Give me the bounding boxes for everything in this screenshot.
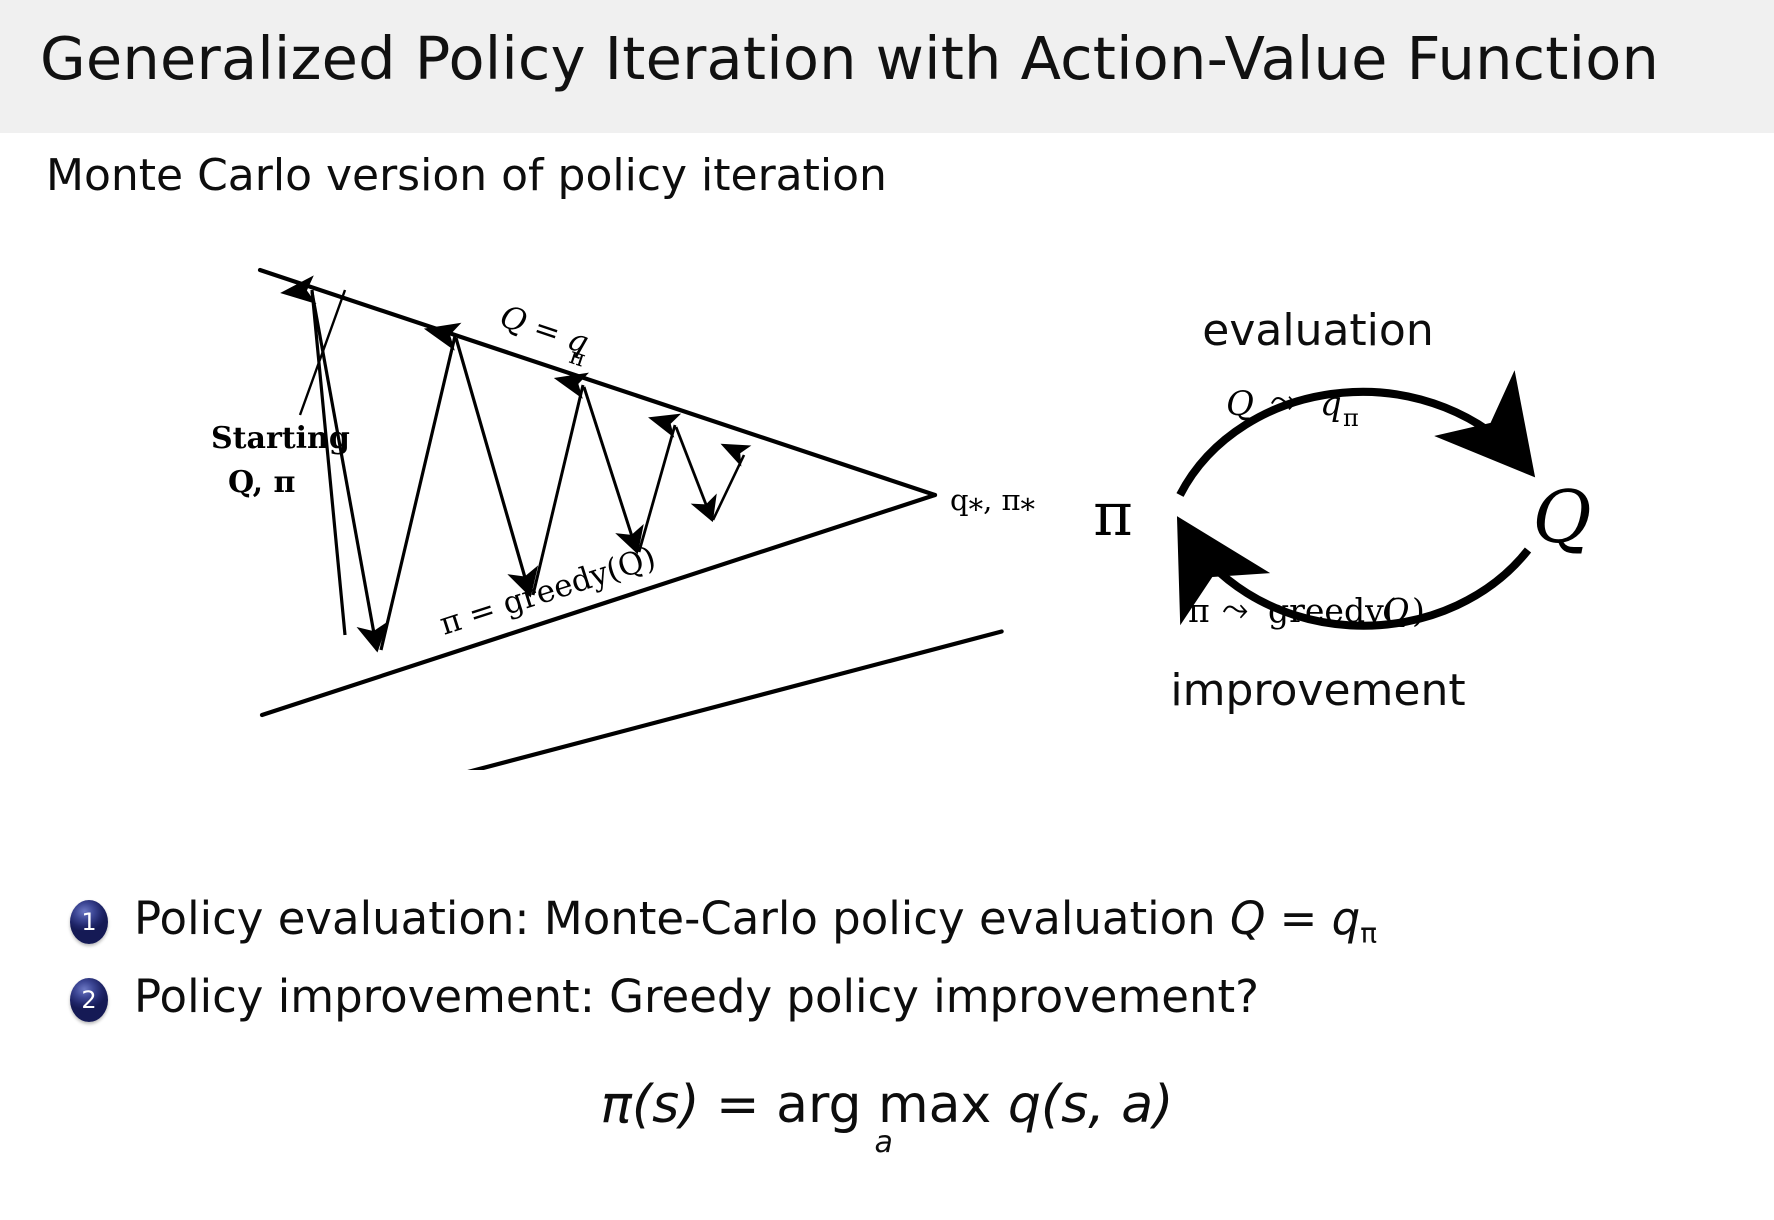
list-item-text: Policy evaluation: Monte-Carlo policy ev… [134,890,1377,962]
formula-operator-subscript: a [875,1125,893,1160]
formula-lhs: π(s) [601,1075,700,1135]
enumerated-steps-list: 1 Policy evaluation: Monte-Carlo policy … [70,890,1720,1046]
formula-rhs: q(s, a) [1008,1075,1174,1135]
formula-equals: = [716,1075,760,1135]
list-item-label: Policy improvement: Greedy policy improv… [134,970,1259,1023]
upper-line-label: Q = q π [492,298,595,372]
zigzag-up-5 [713,455,744,520]
gpi-node-pi: π [1093,480,1132,550]
greedy-policy-formula: π(s) = arg max a q(s, a) [0,1075,1774,1135]
list-item: 2 Policy improvement: Greedy policy impr… [70,968,1720,1032]
zigzag-up-1 [312,290,345,635]
svg-text:Q: Q [1382,591,1409,630]
starting-label-line2: Q, π [228,465,296,500]
improvement-arc-label: π ⤳ greedy( Q ) [1188,589,1425,630]
svg-text:greedy(: greedy( [1268,591,1397,630]
svg-text:): ) [1412,591,1425,630]
upper-boundary-line [260,270,935,495]
lower-boundary-line-2 [262,495,935,715]
svg-text:π: π [1188,591,1210,630]
convergence-label: q⁎, π⁎ [950,483,1036,517]
subtitle-text: Monte Carlo version of policy iteration [46,150,887,201]
improvement-label: improvement [1170,665,1465,716]
list-item-math: Q = q [1230,892,1360,945]
list-item: 1 Policy evaluation: Monte-Carlo policy … [70,890,1720,954]
starting-label-line1: Starting [211,421,350,456]
zigzag-up-4 [639,425,675,552]
svg-text:⤳: ⤳ [1270,381,1297,421]
zigzag-down-1 [312,292,377,650]
svg-text:⤳: ⤳ [1222,589,1248,628]
bullet-number-badge: 1 [70,900,108,944]
diagram-area: Starting Q, π Q = q π π = greedy(Q) q⁎, … [0,230,1774,770]
list-item-math-subscript: π [1360,916,1377,949]
convergence-triangle-group: Starting Q, π Q = q π π = greedy(Q) q⁎, … [211,270,1036,770]
svg-text:π = greedy(Q): π = greedy(Q) [435,540,660,643]
gpi-node-Q: Q [1532,475,1591,559]
formula-argmax: arg max a [776,1075,991,1135]
zigzag-up-2 [381,336,455,650]
svg-text:π: π [1343,404,1359,432]
zigzag-down-4 [676,427,712,520]
bullet-number-badge: 2 [70,978,108,1022]
page-title: Generalized Policy Iteration with Action… [40,24,1659,93]
lower-line-label: π = greedy(Q) [435,540,660,643]
svg-text:q: q [1320,384,1342,424]
list-item-label: Policy evaluation: Monte-Carlo policy ev… [134,892,1230,945]
list-item-text: Policy improvement: Greedy policy improv… [134,968,1259,1026]
zigzag-down-2 [456,338,530,595]
slide-header-band: Generalized Policy Iteration with Action… [0,0,1774,133]
svg-text:Q: Q [1226,384,1254,424]
evaluation-label: evaluation [1202,305,1433,356]
gpi-cycle-group: evaluation improvement Q ⤳ q π π ⤳ greed… [1093,305,1591,716]
zigzag-down-3 [584,387,637,552]
lower-boundary-line [351,622,1002,770]
